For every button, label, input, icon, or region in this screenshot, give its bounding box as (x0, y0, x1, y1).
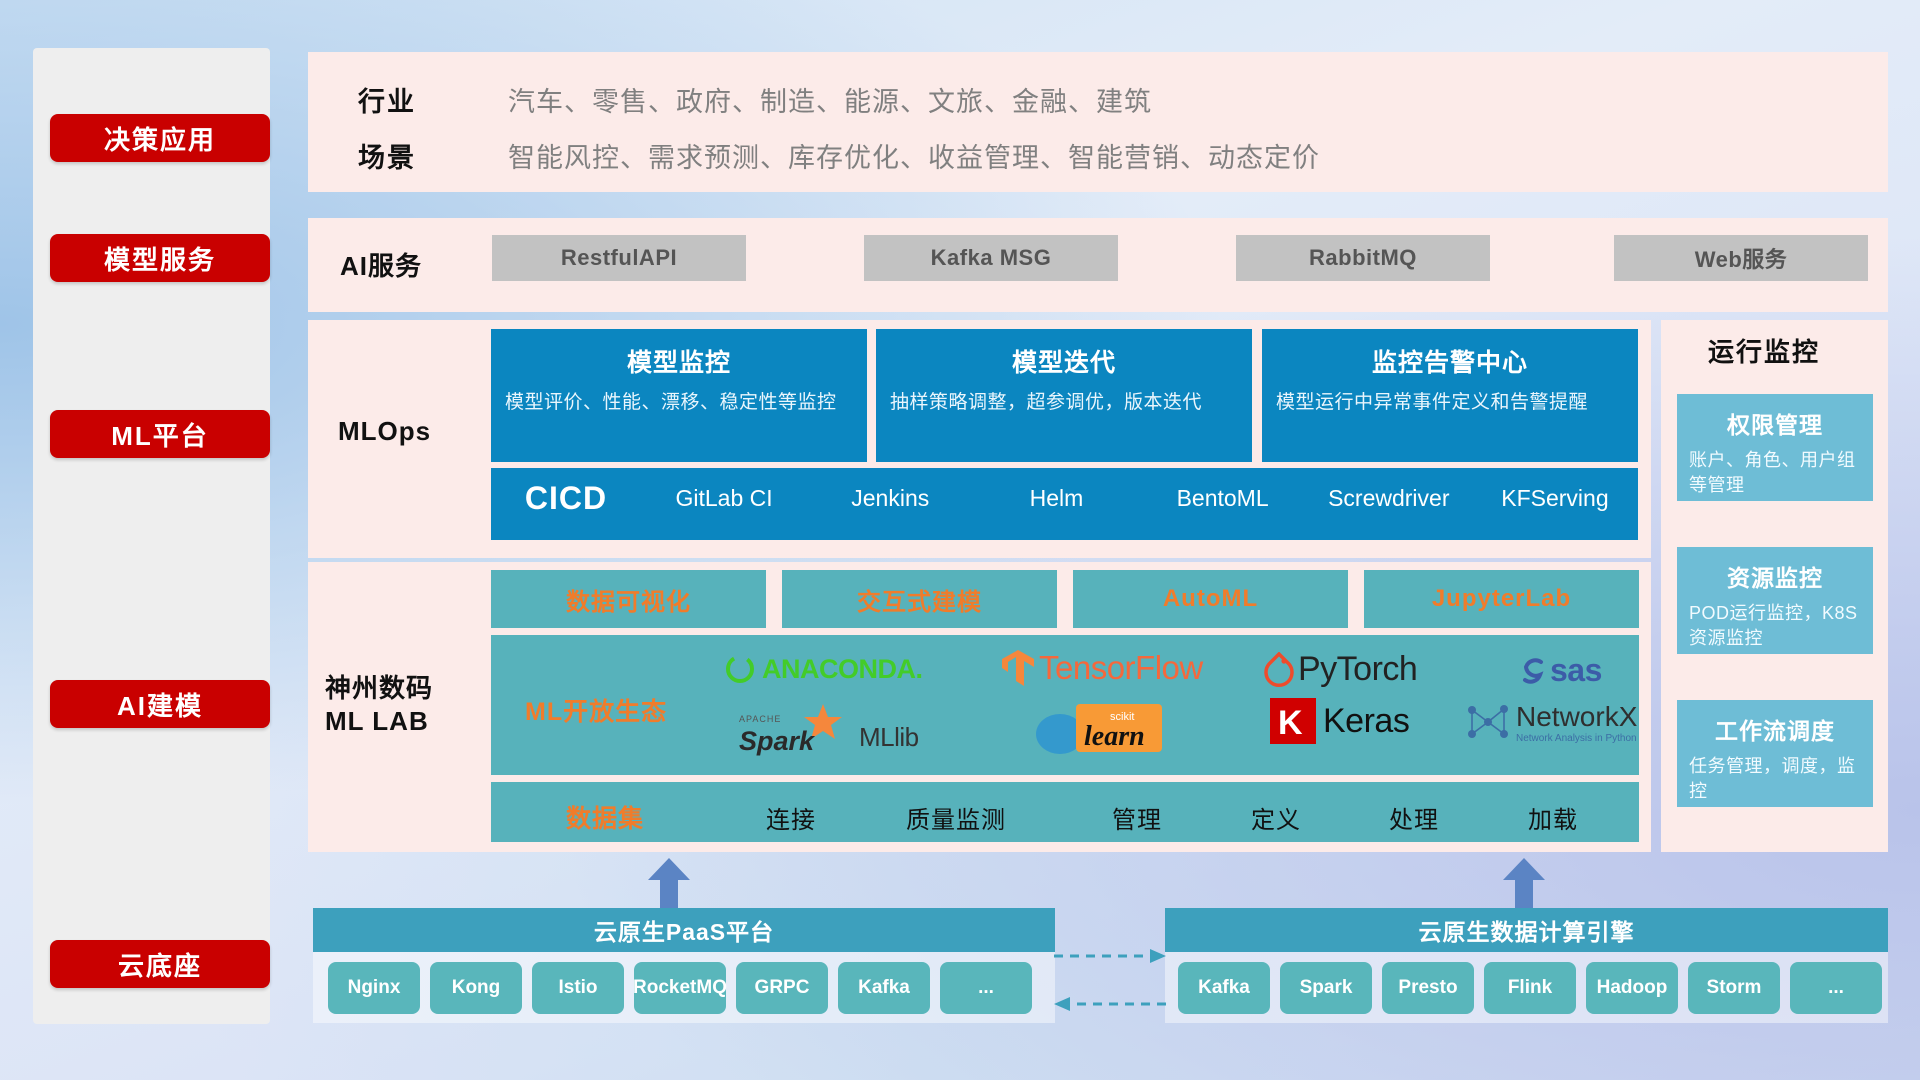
anaconda-wordmark: ANACONDA. (762, 654, 923, 685)
dataset-item-define[interactable]: 定义 (1251, 800, 1301, 835)
keras-wordmark: Keras (1323, 702, 1409, 741)
layer-tag-ai-modeling[interactable]: AI建模 (50, 680, 270, 728)
card-title: 工作流调度 (1677, 712, 1873, 746)
cicd-item-helm[interactable]: Helm (973, 468, 1139, 513)
card-desc: 任务管理，调度，监控 (1677, 754, 1873, 804)
arrow-up-data-engine-icon (1503, 858, 1545, 914)
monitor-title: 运行监控 (1708, 332, 1820, 369)
exchange-arrows-icon (1050, 940, 1170, 1020)
industry-label: 行业 (358, 80, 416, 119)
industry-value: 汽车、零售、政府、制造、能源、文旅、金融、建筑 (508, 80, 1152, 119)
pytorch-logo: PyTorch (1264, 650, 1417, 689)
paas-chip-kafka[interactable]: Kafka (838, 962, 930, 1014)
paas-chip-istio[interactable]: Istio (532, 962, 624, 1014)
card-title: 监控告警中心 (1262, 343, 1638, 379)
sas-wordmark: sas (1550, 652, 1602, 689)
paas-chip-more[interactable]: ... (940, 962, 1032, 1014)
svg-text:learn: learn (1084, 721, 1145, 752)
card-title: 模型迭代 (876, 343, 1252, 379)
svg-text:APACHE: APACHE (739, 714, 781, 724)
card-desc: 模型评价、性能、漂移、稳定性等监控 (491, 389, 867, 417)
monitor-card-permission[interactable]: 权限管理 账户、角色、用户组等管理 (1677, 394, 1873, 501)
ml-lab-tab-data-visualization[interactable]: 数据可视化 (491, 570, 766, 628)
engine-chip-presto[interactable]: Presto (1382, 962, 1474, 1014)
ai-service-chip-kafka-msg[interactable]: Kafka MSG (864, 235, 1118, 281)
ml-lab-tab-jupyterlab[interactable]: JupyterLab (1364, 570, 1639, 628)
layer-tag-decision[interactable]: 决策应用 (50, 114, 270, 162)
mllib-wordmark: MLlib (859, 722, 919, 753)
networkx-logo: NetworkX Network Analysis in Python (1464, 700, 1637, 744)
engine-chip-spark[interactable]: Spark (1280, 962, 1372, 1014)
engine-chip-kafka[interactable]: Kafka (1178, 962, 1270, 1014)
engine-chip-flink[interactable]: Flink (1484, 962, 1576, 1014)
anaconda-logo: ANACONDA. (723, 652, 923, 686)
ml-ecosystem-label: ML开放生态 (525, 692, 667, 728)
ml-lab-label: 神州数码 ML LAB (325, 672, 433, 737)
dataset-bar (491, 782, 1639, 842)
cicd-item-gitlab-ci[interactable]: GitLab CI (641, 468, 807, 513)
monitor-card-resource[interactable]: 资源监控 POD运行监控，K8S资源监控 (1677, 547, 1873, 654)
architecture-diagram: 决策应用 模型服务 ML平台 AI建模 云底座 行业 汽车、零售、政府、制造、能… (0, 0, 1920, 1080)
scenario-value: 智能风控、需求预测、库存优化、收益管理、智能营销、动态定价 (508, 136, 1320, 175)
engine-chip-storm[interactable]: Storm (1688, 962, 1780, 1014)
paas-chip-nginx[interactable]: Nginx (328, 962, 420, 1014)
networkx-tagline: Network Analysis in Python (1516, 733, 1637, 744)
arrow-up-paas-icon (648, 858, 690, 914)
card-title: 模型监控 (491, 343, 867, 379)
card-title: 资源监控 (1677, 559, 1873, 593)
layer-rail (33, 48, 270, 1024)
paas-title: 云原生PaaS平台 (313, 908, 1055, 952)
sas-logo: sas (1517, 652, 1602, 689)
cicd-item-bentoml[interactable]: BentoML (1140, 468, 1306, 513)
ai-service-label: AI服务 (340, 250, 422, 283)
dataset-item-process[interactable]: 处理 (1389, 800, 1439, 835)
mlops-label: MLOps (338, 415, 431, 448)
pytorch-wordmark: PyTorch (1298, 650, 1417, 689)
data-engine-title: 云原生数据计算引擎 (1165, 908, 1888, 952)
card-desc: 抽样策略调整，超参调优，版本迭代 (876, 389, 1252, 417)
mlops-card-model-monitoring[interactable]: 模型监控 模型评价、性能、漂移、稳定性等监控 (491, 329, 867, 462)
ai-service-chip-rabbitmq[interactable]: RabbitMQ (1236, 235, 1490, 281)
dataset-item-manage[interactable]: 管理 (1112, 800, 1162, 835)
paas-chip-kong[interactable]: Kong (430, 962, 522, 1014)
paas-chip-rocketmq[interactable]: RocketMQ (634, 962, 726, 1014)
monitor-card-workflow[interactable]: 工作流调度 任务管理，调度，监控 (1677, 700, 1873, 807)
card-desc: POD运行监控，K8S资源监控 (1677, 601, 1873, 651)
dataset-item-quality[interactable]: 质量监测 (906, 800, 1006, 835)
cicd-bar[interactable]: CICD GitLab CI Jenkins Helm BentoML Scre… (491, 468, 1638, 540)
cicd-item-screwdriver[interactable]: Screwdriver (1306, 468, 1472, 513)
engine-chip-more[interactable]: ... (1790, 962, 1882, 1014)
dataset-label: 数据集 (566, 799, 644, 835)
ai-service-chip-restfulapi[interactable]: RestfulAPI (492, 235, 746, 281)
scenario-label: 场景 (358, 136, 416, 175)
ml-lab-tab-automl[interactable]: AutoML (1073, 570, 1348, 628)
engine-chip-hadoop[interactable]: Hadoop (1586, 962, 1678, 1014)
layer-tag-model-service[interactable]: 模型服务 (50, 234, 270, 282)
ai-service-chip-web-service[interactable]: Web服务 (1614, 235, 1868, 281)
ml-lab-tab-interactive-modeling[interactable]: 交互式建模 (782, 570, 1057, 628)
spark-mllib-logo: APACHE Spark MLlib (737, 702, 919, 756)
paas-chip-grpc[interactable]: GRPC (736, 962, 828, 1014)
card-desc: 模型运行中异常事件定义和告警提醒 (1262, 389, 1638, 417)
card-desc: 账户、角色、用户组等管理 (1677, 448, 1873, 498)
mlops-card-alert-center[interactable]: 监控告警中心 模型运行中异常事件定义和告警提醒 (1262, 329, 1638, 462)
svg-text:K: K (1278, 704, 1303, 742)
cicd-item-jenkins[interactable]: Jenkins (807, 468, 973, 513)
mlops-card-model-iteration[interactable]: 模型迭代 抽样策略调整，超参调优，版本迭代 (876, 329, 1252, 462)
svg-text:Spark: Spark (739, 726, 816, 756)
scikit-learn-logo: scikit learn (1032, 700, 1182, 756)
card-title: 权限管理 (1677, 406, 1873, 440)
tensorflow-wordmark: TensorFlow (1039, 649, 1203, 687)
cicd-item-kfserving[interactable]: KFServing (1472, 468, 1638, 513)
layer-tag-cloud-base[interactable]: 云底座 (50, 940, 270, 988)
networkx-wordmark: NetworkX (1516, 701, 1637, 733)
tensorflow-logo: TensorFlow (1000, 648, 1203, 688)
cicd-title: CICD (491, 468, 641, 517)
layer-tag-ml-platform[interactable]: ML平台 (50, 410, 270, 458)
dataset-item-connect[interactable]: 连接 (766, 800, 816, 835)
keras-logo: K Keras (1270, 698, 1409, 744)
dataset-item-load[interactable]: 加载 (1528, 800, 1578, 835)
